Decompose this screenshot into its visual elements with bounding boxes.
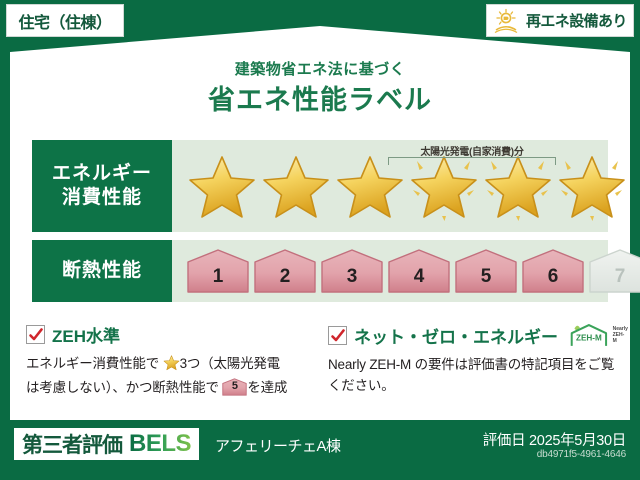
note-nze-header: ネット・ゼロ・エネルギー ZEH-M Nearly ZEH-M bbox=[328, 322, 618, 348]
insulation-level-4-number: 4 bbox=[387, 266, 451, 288]
energy-label-line2: 消費性能 bbox=[62, 186, 142, 210]
label-subtitle: 建築物省エネ法に基づく bbox=[0, 58, 640, 79]
zeh-description: エネルギー消費性能で 3つ（太陽光発電 は考慮しない）、かつ断熱性能で 5 を達… bbox=[26, 354, 316, 398]
bels-jp-label: 第三者評価 bbox=[22, 429, 122, 459]
label-title: 省エネ性能ラベル bbox=[0, 78, 640, 117]
insulation-level-1-number: 1 bbox=[186, 266, 250, 288]
zeh-m-logo: ZEH-M Nearly ZEH-M bbox=[569, 322, 628, 348]
building-type-label: 住宅（住棟） bbox=[18, 9, 111, 33]
solar-generation-note: 太陽光発電(自家消費)分 bbox=[388, 143, 556, 158]
zeh-m-logo-sub1: Nearly bbox=[613, 326, 628, 332]
star-filled-2 bbox=[260, 150, 332, 222]
evaluation-id: db4971f5-4961-4646 bbox=[537, 449, 626, 460]
zeh-m-logo-sub2: ZEH-M bbox=[613, 332, 625, 344]
inline-house-icon: 5 bbox=[222, 378, 247, 396]
insulation-level-scale: 1 2 3 4 5 bbox=[172, 240, 640, 302]
note-net-zero-energy: ネット・ゼロ・エネルギー ZEH-M Nearly ZEH-M Nearly Z… bbox=[328, 322, 618, 398]
zeh-desc-star-count: 3つ（太陽光発電 bbox=[180, 356, 280, 371]
note-zeh-header: ZEH水準 bbox=[26, 322, 316, 347]
svg-text:ZEH-M: ZEH-M bbox=[576, 333, 602, 342]
renewable-badge-label: 再エネ設備あり bbox=[526, 10, 627, 31]
evaluation-date: 評価日 2025年5月30日 bbox=[483, 429, 626, 450]
insulation-level-5-number: 5 bbox=[454, 266, 518, 288]
nze-title: ネット・ゼロ・エネルギー bbox=[354, 323, 558, 348]
solar-range-bracket bbox=[388, 157, 556, 165]
zeh-desc-part1: エネルギー消費性能で bbox=[26, 356, 159, 371]
star-solar-6 bbox=[556, 150, 628, 222]
zeh-title: ZEH水準 bbox=[52, 322, 120, 347]
renewable-equipment-badge: 再エネ設備あり bbox=[486, 4, 634, 37]
star-filled-1 bbox=[186, 150, 258, 222]
bels-en-label: BELS bbox=[129, 430, 191, 458]
inline-house-number: 5 bbox=[222, 378, 247, 395]
insulation-performance-row: 断熱性能 1 2 bbox=[32, 240, 608, 302]
zeh-checkbox bbox=[26, 325, 45, 344]
insulation-level-6-number: 6 bbox=[521, 266, 585, 288]
insulation-level-7: 7 bbox=[588, 248, 640, 294]
energy-label-line1: エネルギー bbox=[52, 162, 152, 186]
building-type-badge: 住宅（住棟） bbox=[6, 4, 124, 37]
insulation-performance-label: 断熱性能 bbox=[32, 240, 172, 302]
insulation-label-text: 断熱性能 bbox=[62, 259, 142, 283]
inline-star-icon bbox=[163, 354, 180, 378]
notes-section: ZEH水準 エネルギー消費性能で 3つ（太陽光発電 は考慮しない）、かつ断熱性能… bbox=[26, 322, 618, 398]
insulation-level-5: 5 bbox=[454, 248, 518, 294]
insulation-level-6: 6 bbox=[521, 248, 585, 294]
energy-performance-label: エネルギー 消費性能 bbox=[32, 140, 172, 232]
insulation-level-3-number: 3 bbox=[320, 266, 384, 288]
note-zeh-standard: ZEH水準 エネルギー消費性能で 3つ（太陽光発電 は考慮しない）、かつ断熱性能… bbox=[26, 322, 316, 398]
nze-checkbox bbox=[328, 326, 347, 345]
insulation-level-2: 2 bbox=[253, 248, 317, 294]
building-name: アフェリーチェA棟 bbox=[215, 435, 341, 456]
insulation-level-3: 3 bbox=[320, 248, 384, 294]
insulation-level-7-number: 7 bbox=[588, 266, 640, 288]
insulation-level-4: 4 bbox=[387, 248, 451, 294]
insulation-level-2-number: 2 bbox=[253, 266, 317, 288]
zeh-desc-part2: は考慮しない）、かつ断熱性能で bbox=[26, 380, 219, 395]
nze-description: Nearly ZEH-M の要件は評価書の特記項目をご覧ください。 bbox=[328, 355, 618, 396]
zeh-desc-part3: を達成 bbox=[247, 380, 287, 395]
bels-evaluation-badge: 第三者評価 BELS bbox=[14, 428, 199, 460]
insulation-level-1: 1 bbox=[186, 248, 250, 294]
solar-sun-icon bbox=[493, 8, 523, 34]
footer-bar: 第三者評価 BELS アフェリーチェA棟 評価日 2025年5月30日 db49… bbox=[0, 422, 640, 480]
